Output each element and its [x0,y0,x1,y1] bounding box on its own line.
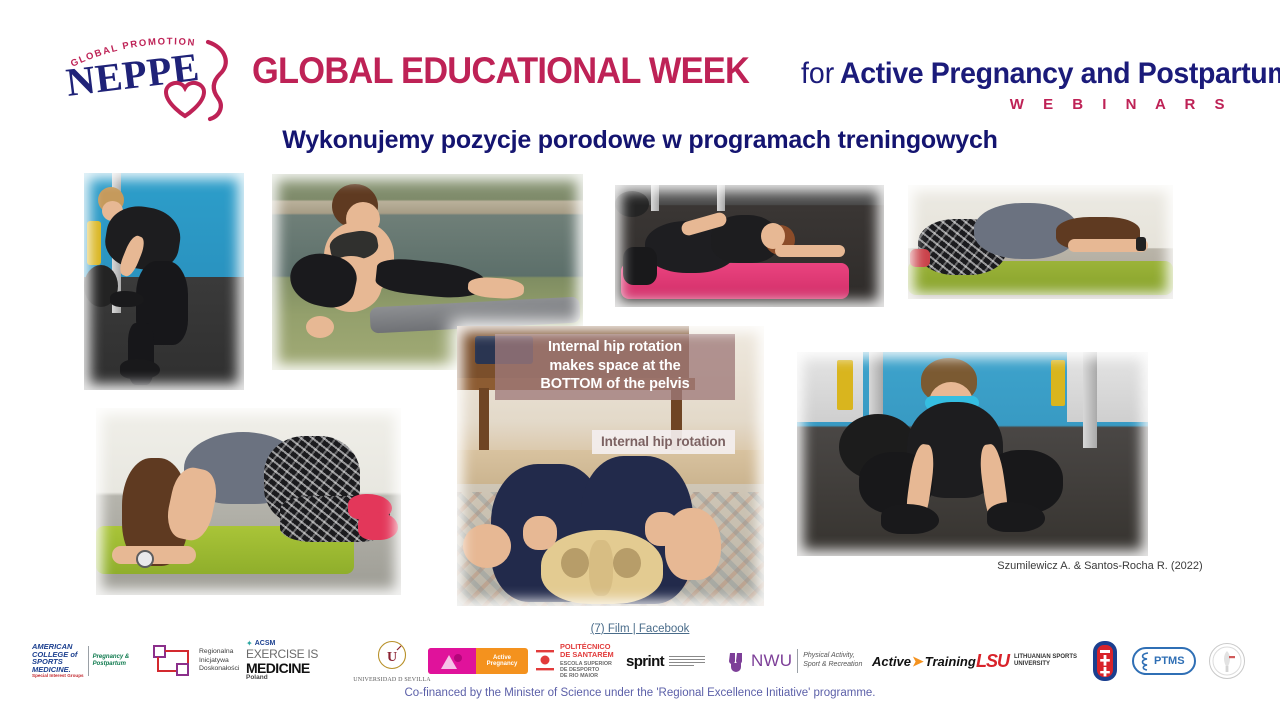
webinars-label: W E B I N A R S [1010,96,1232,113]
rid-line-3: Doskonałości [199,665,239,673]
photo-deep-squat-position [797,352,1148,556]
logo-gdansk-university-of-physical-education [1084,636,1126,686]
caption-internal-hip-rotation-primary: Internal hip rotation makes space at the… [495,334,735,400]
sprint-label: sprint [626,653,664,670]
rid-line-1: Regionalna [199,648,239,656]
caption-internal-hip-rotation-tag: Internal hip rotation [592,430,735,454]
logo-active-training: Active ➤ Training [872,636,968,686]
title-connector: for [801,59,834,89]
neppe-logo: GLOBAL PROMOTION NEPPE [62,34,247,122]
photo-canvas [84,173,244,390]
ps-line-2: DE SANTARÉM [560,651,614,659]
nwu-sub-2: Sport & Recreation [803,661,862,670]
logo-lithuanian-sports-university: LSU LITHUANIAN SPORTS UNIVERSITY [976,636,1094,686]
caption-line-1: Internal hip rotation [501,338,729,357]
photo-internal-hip-rotation-pelvis-demo: Internal hip rotation makes space at the… [457,326,764,606]
photo-canvas [797,352,1148,556]
nwu-mark-icon [726,650,746,672]
photo-quadruped-forearm-position [96,408,401,595]
ps-line-3: ESCOLA SUPERIOR [560,661,614,667]
ap-line-2: Pregnancy [476,661,528,667]
logo-active-pregnancy: Active Pregnancy [428,636,532,686]
ptms-label: PTMS [1154,655,1185,667]
santarem-mark-icon [534,646,556,676]
eim-line-3: MEDICINE [246,661,318,676]
logo-ptms: PTMS [1128,636,1200,686]
nwu-sub-1: Physical Activity, [803,652,862,661]
logo-american-college-of-sports-medicine: AMERICAN COLLEGE of SPORTS MEDICINE. Spe… [32,636,150,686]
acsm-side-2: Postpartum [93,661,130,668]
lsu-sub-2: UNIVERSITY [1014,661,1077,668]
photo-side-lying-position [615,185,884,307]
source-link[interactable]: (7) Film | Facebook [0,623,1280,635]
photo-standing-forward-hinge [84,173,244,390]
logo-university-seal [1202,636,1252,686]
header-title-line: GLOBAL EDUCATIONAL WEEKforActive Pregnan… [252,52,1280,89]
photo-childs-pose-kneeling [908,185,1173,299]
caption-line-3: BOTTOM of the pelvis [501,375,729,394]
logo-exercise-is-medicine-poland: ✦ ACSM EXERCISE IS MEDICINE Poland [246,636,346,686]
neppe-logo-graphic: GLOBAL PROMOTION NEPPE [62,34,247,122]
acsm-line-4: MEDICINE. [32,666,84,674]
eim-line-2: EXERCISE IS [246,648,318,661]
footer-logo-bar: AMERICAN COLLEGE of SPORTS MEDICINE. Spe… [0,636,1280,720]
active-pregnancy-figure-icon [437,651,467,671]
logo-sprint: sprint [626,636,728,686]
at-line-1: Active [872,654,911,669]
rid-mark-icon [152,644,194,678]
header-title-block: GLOBAL EDUCATIONAL WEEKforActive Pregnan… [252,52,1232,122]
photo-canvas [615,185,884,307]
acsm-side-1: Pregnancy & [93,654,130,661]
photo-canvas [908,185,1173,299]
slide-subtitle: Wykonujemy pozycje porodowe w programach… [0,126,1280,155]
nwu-label: NWU [751,651,792,671]
photo-canvas [96,408,401,595]
acsm-line-5: Special Interest Groups [32,674,84,679]
sevilla-crest-icon: U [373,640,411,672]
svg-text:U: U [387,650,397,665]
lsu-sub-1: LITHUANIAN SPORTS [1014,654,1077,661]
eim-line-4: Poland [246,675,318,682]
slide-header: GLOBAL PROMOTION NEPPE GLOBAL EDUCATIONA… [0,0,1280,120]
citation-text: Szumilewicz A. & Santos-Rocha R. (2022) [960,560,1240,572]
logo-universidad-de-sevilla: U UNIVERSIDAD D SEVILLA [344,636,440,686]
sevilla-label: UNIVERSIDAD D SEVILLA [353,677,431,683]
eim-line-1: ACSM [255,640,276,647]
university-seal-icon [1208,642,1246,680]
title-active-pregnancy-and-postpartum: Active Pregnancy and Postpartum [840,59,1280,89]
ps-line-5: DE RIO MAIOR [560,673,614,679]
ptms-snake-icon [1137,651,1152,671]
photo-collage: Internal hip rotation makes space at the… [0,160,1280,620]
gdansk-crest-icon [1090,639,1120,683]
lsu-mark: LSU [976,651,1009,672]
title-global-educational-week: GLOBAL EDUCATIONAL WEEK [252,52,749,89]
rid-line-2: Inicjatywa [199,657,239,665]
logo-nwu-physical-activity-sport-recreation: NWU Physical Activity, Sport & Recreatio… [726,636,876,686]
footer-funding-note: Co-financed by the Minister of Science u… [0,687,1280,699]
caption-line-2: makes space at the [501,357,729,376]
at-line-2: Training [925,654,976,669]
